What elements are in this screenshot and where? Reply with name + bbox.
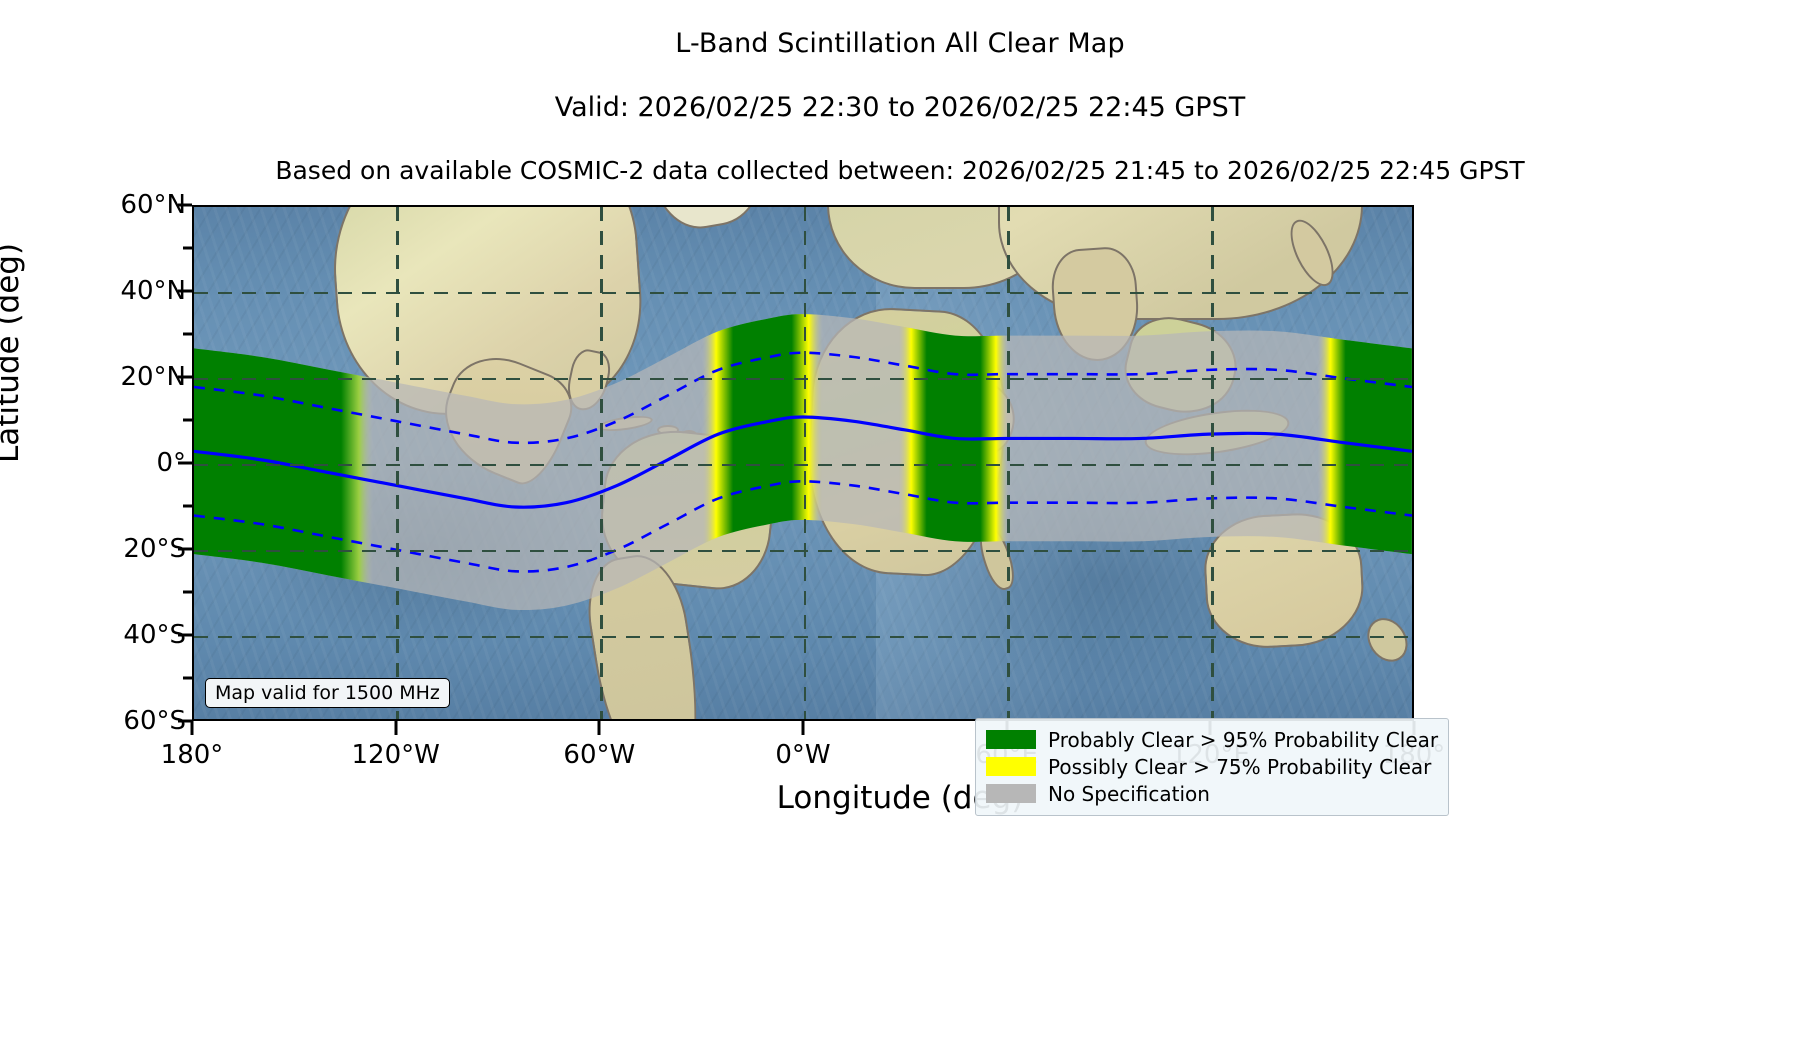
y-axis-minor-tick: [183, 419, 192, 422]
x-axis-tick-label: 60°W: [563, 740, 635, 770]
y-axis-minor-tick: [183, 247, 192, 250]
map-plot-area[interactable]: [192, 205, 1414, 721]
y-axis-tick-label: 60°N: [120, 190, 186, 220]
legend-swatch-possibly-clear: [986, 757, 1036, 776]
map-canvas: [194, 207, 1412, 719]
legend-item-possibly-clear[interactable]: Possibly Clear > 75% Probability Clear: [986, 753, 1438, 780]
legend-label-possibly-clear: Possibly Clear > 75% Probability Clear: [1048, 755, 1431, 779]
y-axis-minor-tick: [183, 333, 192, 336]
y-axis-title: Latitude (deg): [0, 243, 26, 463]
legend-item-no-specification[interactable]: No Specification: [986, 780, 1438, 807]
y-axis-minor-tick: [183, 677, 192, 680]
legend-label-no-specification: No Specification: [1048, 782, 1210, 806]
x-axis-tick: [191, 721, 194, 735]
x-axis-tick: [394, 721, 397, 735]
title-block: L-Band Scintillation All Clear Map Valid…: [0, 0, 1800, 185]
page-title: L-Band Scintillation All Clear Map: [0, 28, 1800, 59]
legend-label-probably-clear: Probably Clear > 95% Probability Clear: [1048, 728, 1438, 752]
clear-segment: [1317, 207, 1412, 719]
legend-swatch-no-specification: [986, 784, 1036, 803]
y-axis-tick-label: 0°: [156, 448, 186, 478]
x-axis-tick-label: 180°: [161, 740, 224, 770]
legend-item-probably-clear[interactable]: Probably Clear > 95% Probability Clear: [986, 726, 1438, 753]
y-axis-tick-label: 40°N: [120, 276, 186, 306]
frequency-note: Map valid for 1500 MHz: [205, 678, 450, 708]
x-axis-tick: [802, 721, 805, 735]
legend[interactable]: Probably Clear > 95% Probability ClearPo…: [975, 718, 1449, 816]
y-axis-tick-label: 40°S: [123, 620, 186, 650]
clear-segment: [701, 207, 823, 719]
scintillation-band-overlay: [194, 207, 1412, 719]
validity-subtitle: Valid: 2026/02/25 22:30 to 2026/02/25 22…: [0, 92, 1800, 123]
y-axis-tick-label: 20°S: [123, 534, 186, 564]
y-axis-minor-tick: [183, 591, 192, 594]
clear-segment: [898, 207, 1010, 719]
y-axis-minor-tick: [183, 505, 192, 508]
x-axis-tick-label: 120°W: [351, 740, 439, 770]
legend-swatch-probably-clear: [986, 730, 1036, 749]
x-axis-tick: [598, 721, 601, 735]
y-axis-tick-label: 60°S: [123, 706, 186, 736]
y-axis-tick-label: 20°N: [120, 362, 186, 392]
x-axis-title: Longitude (deg): [0, 780, 1800, 816]
data-source-subtitle: Based on available COSMIC-2 data collect…: [0, 156, 1800, 185]
x-axis-tick-label: 0°W: [775, 740, 830, 770]
